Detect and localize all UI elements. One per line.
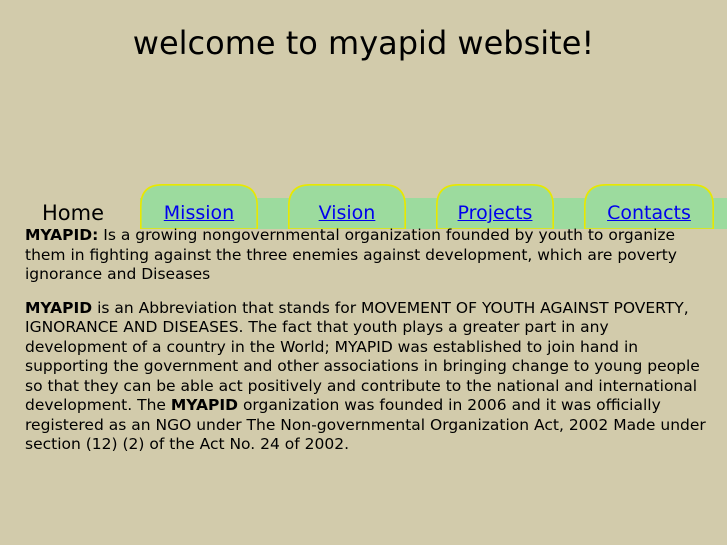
nav-tab-projects[interactable]: Projects <box>436 184 554 229</box>
nav-link-mission[interactable]: Mission <box>140 198 258 229</box>
paragraph-intro: MYAPID: Is a growing nongovernmental org… <box>25 226 715 285</box>
nav-tab-contacts[interactable]: Contacts <box>584 184 714 229</box>
main-content: MYAPID: Is a growing nongovernmental org… <box>25 226 715 469</box>
paragraph-about-emphasis: MYAPID <box>171 396 238 414</box>
nav-link-contacts[interactable]: Contacts <box>584 198 714 229</box>
nav-link-vision[interactable]: Vision <box>288 198 406 229</box>
page-title: welcome to myapid website! <box>0 23 727 63</box>
nav-item-home[interactable]: Home <box>42 198 104 229</box>
main-navigation: Home Mission Vision Projects Contacts <box>0 184 727 229</box>
paragraph-intro-body: Is a growing nongovernmental organizatio… <box>25 226 677 283</box>
paragraph-intro-lead: MYAPID: <box>25 226 98 244</box>
nav-tab-vision[interactable]: Vision <box>288 184 406 229</box>
nav-link-projects[interactable]: Projects <box>436 198 554 229</box>
nav-tab-mission[interactable]: Mission <box>140 184 258 229</box>
paragraph-about-lead: MYAPID <box>25 299 92 317</box>
paragraph-about: MYAPID is an Abbreviation that stands fo… <box>25 299 715 455</box>
